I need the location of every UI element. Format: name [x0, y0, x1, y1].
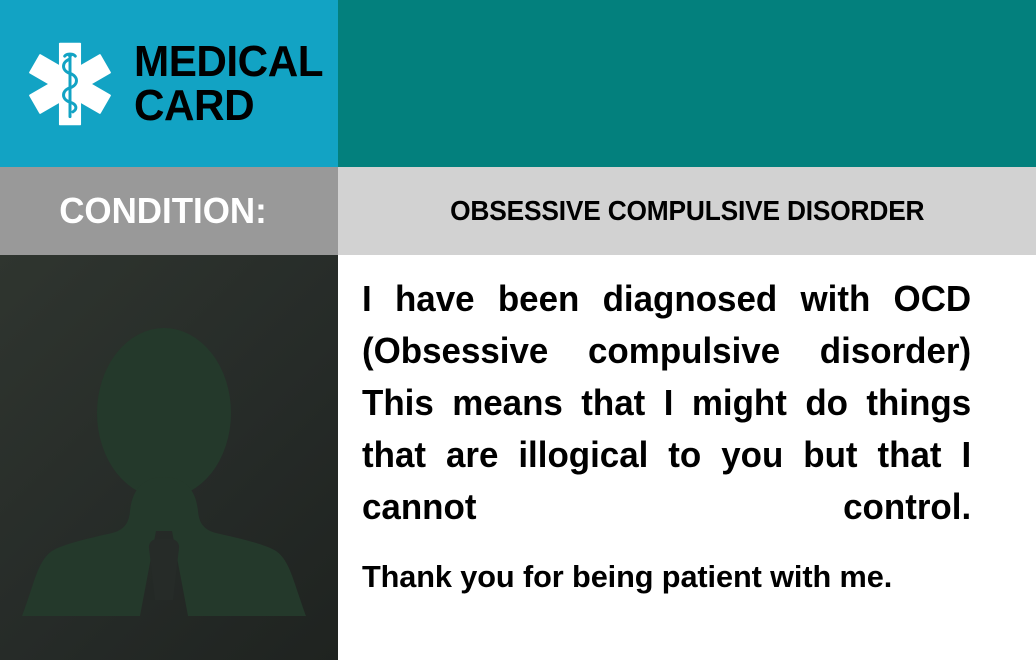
card-header: MEDICAL CARD — [0, 0, 1036, 167]
star-of-life-icon — [22, 36, 118, 132]
condition-value: OBSESSIVE COMPULSIVE DISORDER — [450, 195, 924, 227]
brand-wordmark: MEDICAL CARD — [134, 40, 331, 126]
brand-block: MEDICAL CARD — [0, 0, 338, 167]
condition-label-cell: CONDITION: — [0, 167, 338, 255]
message-body: I have been diagnosed with OCD (Obsessiv… — [362, 273, 971, 533]
brand-line-1: MEDICAL — [134, 40, 323, 83]
condition-label: CONDITION: — [59, 190, 267, 232]
message-pane: I have been diagnosed with OCD (Obsessiv… — [338, 255, 1036, 660]
card-body: I have been diagnosed with OCD (Obsessiv… — [0, 255, 1036, 660]
message-closing: Thank you for being patient with me. — [362, 557, 984, 597]
header-accent-panel — [338, 0, 1036, 167]
photo-pane — [0, 255, 338, 660]
condition-value-cell: OBSESSIVE COMPULSIVE DISORDER — [338, 167, 1036, 255]
condition-bar: CONDITION: OBSESSIVE COMPULSIVE DISORDER — [0, 167, 1036, 255]
brand-line-2: CARD — [134, 84, 323, 127]
medical-card: MEDICAL CARD CONDITION: OBSESSIVE COMPUL… — [0, 0, 1036, 660]
